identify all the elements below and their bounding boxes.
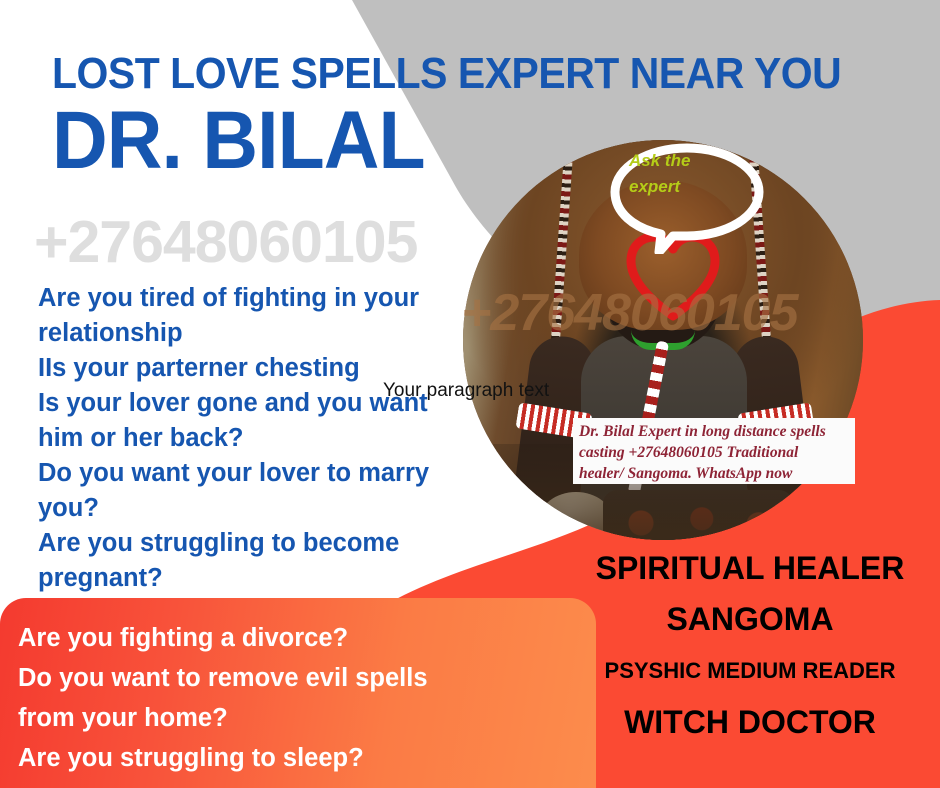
list-item: Are you fighting a divorce? (18, 618, 596, 658)
list-item: Are you struggling to sleep? (18, 738, 596, 778)
list-item: him or her back? (38, 421, 463, 456)
service-psychic-medium-reader: PSYSHIC MEDIUM READER (560, 648, 940, 694)
practitioner-name: DR. BILAL (52, 100, 425, 182)
paragraph-placeholder-text: Your paragraph text (383, 380, 549, 402)
blue-questions-list: Are you tired of fighting in your relati… (38, 281, 463, 596)
list-item: pregnant? (38, 561, 463, 596)
speech-bubble-text: Ask the expert (629, 148, 749, 200)
list-item: Are you tired of fighting in your (38, 281, 463, 316)
service-sangoma: SANGOMA (560, 590, 940, 648)
photo-caption-box: Dr. Bilal Expert in long distance spells… (573, 418, 855, 484)
phone-number-large: +27648060105 (34, 213, 417, 272)
caption-line-1: Dr. Bilal Expert in long distance spells (579, 421, 855, 442)
poster-canvas: LOST LOVE SPELLS EXPERT NEAR YOU DR. BIL… (0, 0, 940, 788)
list-item: Do you want to remove evil spells (18, 658, 596, 698)
service-spiritual-healer: SPIRITUAL HEALER (560, 546, 940, 590)
page-title: LOST LOVE SPELLS EXPERT NEAR YOU (52, 52, 841, 96)
service-witch-doctor: WITCH DOCTOR (560, 694, 940, 750)
list-item: relationship (38, 316, 463, 351)
list-item: you? (38, 491, 463, 526)
speech-bubble-line-1: Ask the (629, 148, 749, 174)
list-item: Are you struggling to become (38, 526, 463, 561)
caption-line-2: casting +27648060105 Traditional (579, 442, 855, 463)
speech-bubble-line-2: expert (629, 174, 749, 200)
phone-watermark: +27648060105 (461, 287, 798, 339)
list-item: Do you want your lover to marry (38, 456, 463, 491)
list-item: from your home? (18, 698, 596, 738)
services-list: SPIRITUAL HEALER SANGOMA PSYSHIC MEDIUM … (560, 546, 940, 750)
orange-questions-card: Are you fighting a divorce? Do you want … (0, 598, 596, 788)
caption-line-3: healer/ Sangoma. WhatsApp now (579, 463, 855, 484)
